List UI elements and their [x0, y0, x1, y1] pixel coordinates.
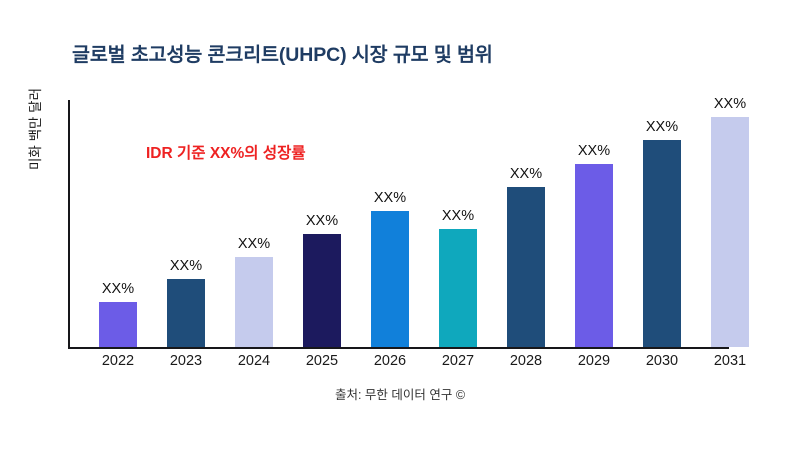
bar-2024[interactable] — [235, 257, 273, 347]
bar-2029[interactable] — [575, 164, 613, 347]
bar-value-label: XX% — [287, 213, 357, 229]
bar-2028[interactable] — [507, 187, 545, 347]
x-tick-2026: 2026 — [355, 353, 425, 369]
bar-value-label: XX% — [219, 236, 289, 252]
x-tick-2031: 2031 — [695, 353, 765, 369]
bar-2026[interactable] — [371, 211, 409, 347]
plot-area: XX%XX%XX%XX%XX%XX%XX%XX%XX%XX% — [68, 100, 782, 349]
x-tick-2027: 2027 — [423, 353, 493, 369]
x-tick-2029: 2029 — [559, 353, 629, 369]
bar-group-2023[interactable]: XX% — [167, 279, 205, 347]
bar-group-2027[interactable]: XX% — [439, 229, 477, 347]
bar-group-2024[interactable]: XX% — [235, 257, 273, 347]
chart-container: 글로벌 초고성능 콘크리트(UHPC) 시장 규모 및 범위 미화 백만 달러 … — [0, 0, 800, 450]
bar-value-label: XX% — [83, 281, 153, 297]
bar-value-label: XX% — [423, 208, 493, 224]
bar-group-2025[interactable]: XX% — [303, 234, 341, 347]
x-tick-2022: 2022 — [83, 353, 153, 369]
x-tick-2023: 2023 — [151, 353, 221, 369]
bar-value-label: XX% — [355, 190, 425, 206]
bar-value-label: XX% — [491, 166, 561, 182]
bar-group-2030[interactable]: XX% — [643, 140, 681, 347]
bar-2025[interactable] — [303, 234, 341, 347]
x-tick-2024: 2024 — [219, 353, 289, 369]
bar-value-label: XX% — [151, 258, 221, 274]
x-axis-line — [68, 347, 729, 349]
bar-group-2029[interactable]: XX% — [575, 164, 613, 347]
bar-2023[interactable] — [167, 279, 205, 347]
x-axis-tick-labels: 2022202320242025202620272028202920302031 — [68, 353, 782, 375]
x-tick-2025: 2025 — [287, 353, 357, 369]
bar-2027[interactable] — [439, 229, 477, 347]
bar-group-2031[interactable]: XX% — [711, 117, 749, 347]
bar-group-2022[interactable]: XX% — [99, 302, 137, 347]
y-axis-line — [68, 100, 70, 349]
bar-value-label: XX% — [695, 96, 765, 112]
y-axis-label: 미화 백만 달러 — [24, 74, 46, 184]
chart-title: 글로벌 초고성능 콘크리트(UHPC) 시장 규모 및 범위 — [72, 38, 732, 67]
source-note: 출처: 무한 데이터 연구 © — [0, 384, 800, 403]
bar-value-label: XX% — [559, 143, 629, 159]
bar-2022[interactable] — [99, 302, 137, 347]
growth-rate-annotation: IDR 기준 XX%의 성장률 — [146, 141, 306, 163]
bar-value-label: XX% — [627, 119, 697, 135]
bar-group-2026[interactable]: XX% — [371, 211, 409, 347]
bar-2030[interactable] — [643, 140, 681, 347]
bar-group-2028[interactable]: XX% — [507, 187, 545, 347]
x-tick-2030: 2030 — [627, 353, 697, 369]
bar-2031[interactable] — [711, 117, 749, 347]
x-tick-2028: 2028 — [491, 353, 561, 369]
